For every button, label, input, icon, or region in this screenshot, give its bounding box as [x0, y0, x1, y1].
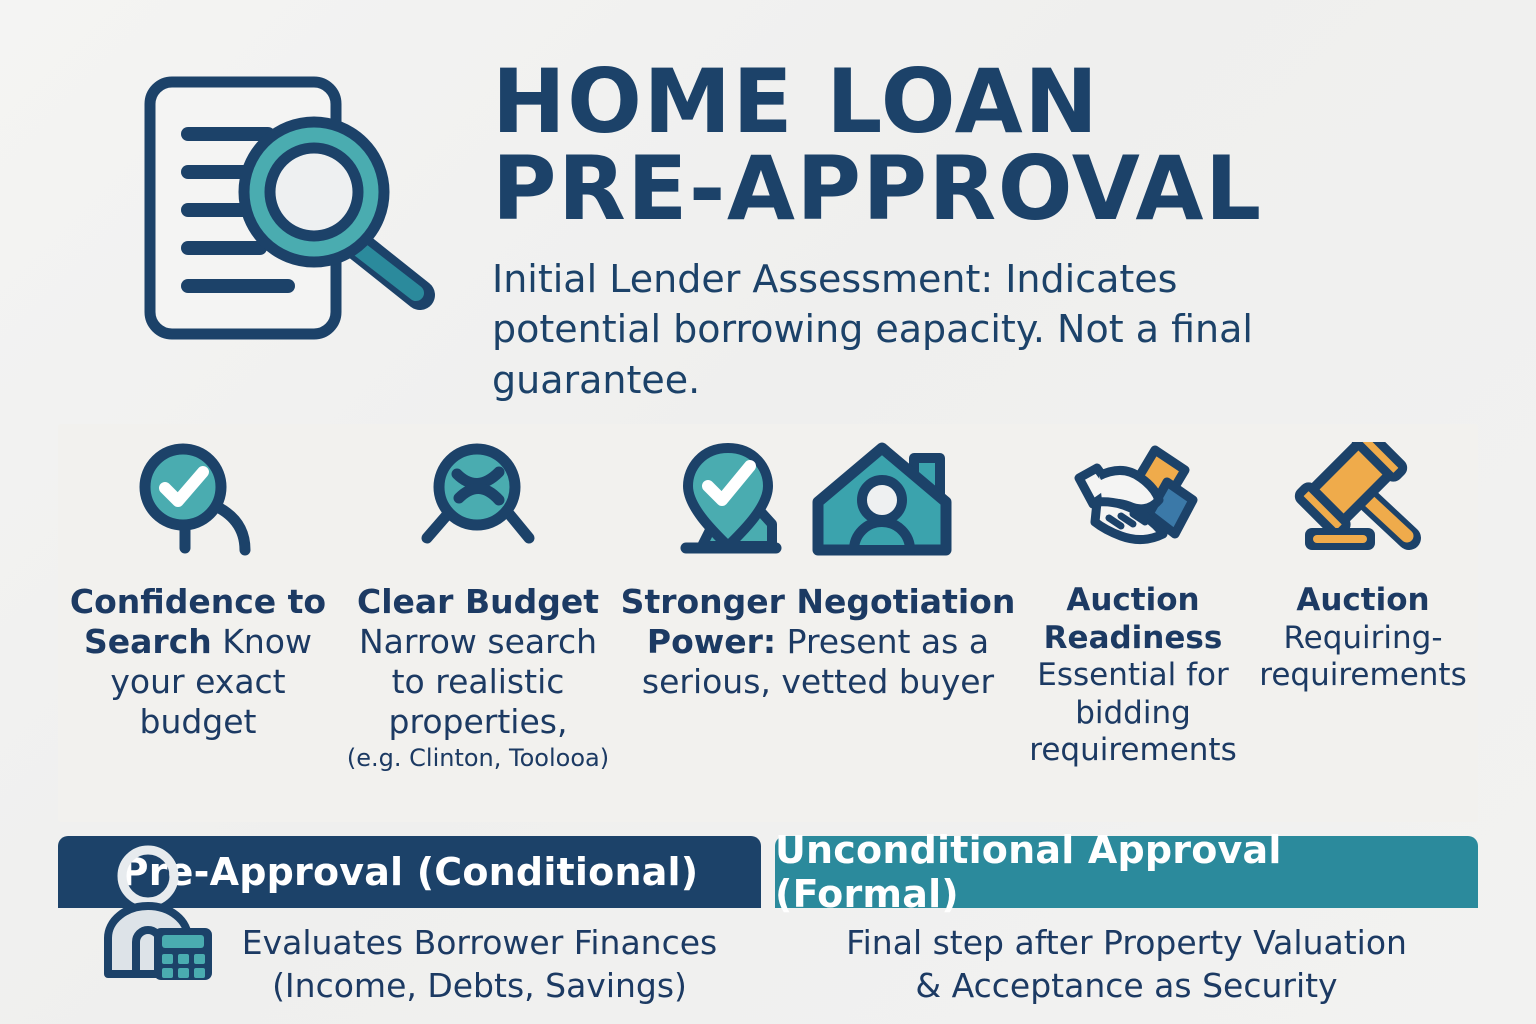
- approval-cards: Pre-Approval (Conditional) Evaluates Bor…: [58, 836, 1478, 1024]
- benefit-text: Confidence to Search Know your exact bud…: [58, 582, 338, 742]
- benefits-columns: Confidence to Search Know your exact bud…: [58, 424, 1478, 822]
- house-person-icon: [810, 442, 960, 560]
- card-unconditional-approval: Unconditional Approval (Formal) Final st…: [775, 836, 1478, 1024]
- benefit-heading: Auction Readiness: [1044, 582, 1223, 656]
- card-body: Final step after Property Valuation & Ac…: [775, 908, 1478, 1008]
- card-pre-approval: Pre-Approval (Conditional) Evaluates Bor…: [58, 836, 761, 1024]
- benefit-body: Narrow search to realistic properties,: [359, 622, 597, 741]
- card-body-line-1: Final step after Property Valuation: [775, 922, 1478, 965]
- icon-row: [133, 442, 263, 574]
- icon-row: [413, 442, 543, 574]
- magnifier-crossed-icon: [413, 442, 543, 560]
- benefit-text: Clear Budget Narrow search to realistic …: [338, 582, 618, 773]
- benefit-column-auction: Auction Requiring- requirements: [1248, 424, 1478, 695]
- gavel-icon: [1293, 442, 1433, 560]
- magnifier-check-icon: [133, 442, 263, 560]
- benefit-column-budget: Clear Budget Narrow search to realistic …: [338, 424, 618, 773]
- benefits-panel: Confidence to Search Know your exact bud…: [58, 424, 1478, 822]
- benefit-text: Stronger Negotiation Power: Present as a…: [618, 582, 1018, 702]
- benefit-text: Auction Requiring- requirements: [1248, 582, 1478, 695]
- title-block: Home Loan Pre-Approval Initial Lender As…: [492, 58, 1502, 405]
- card-body-line-1: Evaluates Borrower Finances: [208, 922, 751, 965]
- benefit-heading: Clear Budget: [357, 582, 599, 621]
- icon-row: [1293, 442, 1433, 574]
- benefit-column-auction-readiness: Auction Readiness Essential for bidding …: [1018, 424, 1248, 770]
- infographic-page: Home Loan Pre-Approval Initial Lender As…: [0, 0, 1536, 1024]
- page-title-line-1: Home Loan: [492, 58, 1502, 145]
- benefit-body: Requiring- requirements: [1259, 620, 1466, 694]
- card-body-line-2: (Income, Debts, Savings): [208, 965, 751, 1008]
- page-title-line-2: Pre-Approval: [492, 145, 1502, 232]
- benefit-text: Auction Readiness Essential for bidding …: [1018, 582, 1248, 770]
- icon-row: [676, 442, 960, 574]
- person-calculator-icon: [98, 842, 222, 982]
- icon-row: [1063, 442, 1203, 574]
- header-section: Home Loan Pre-Approval Initial Lender As…: [0, 0, 1536, 420]
- map-pin-check-icon: [676, 442, 796, 560]
- benefit-body: Essential for bidding requirements: [1029, 657, 1236, 768]
- card-title: Unconditional Approval (Formal): [775, 836, 1478, 908]
- benefit-column-negotiation: Stronger Negotiation Power: Present as a…: [618, 424, 1018, 702]
- benefit-note: (e.g. Clinton, Toolooa): [338, 744, 618, 773]
- card-body-line-2: & Acceptance as Security: [775, 965, 1478, 1008]
- benefit-column-confidence: Confidence to Search Know your exact bud…: [58, 424, 338, 742]
- handshake-icon: [1063, 442, 1203, 560]
- benefit-heading: Auction: [1296, 582, 1429, 618]
- document-magnifier-icon: [136, 72, 446, 344]
- page-subtitle: Initial Lender Assessment: Indicates pot…: [492, 254, 1322, 404]
